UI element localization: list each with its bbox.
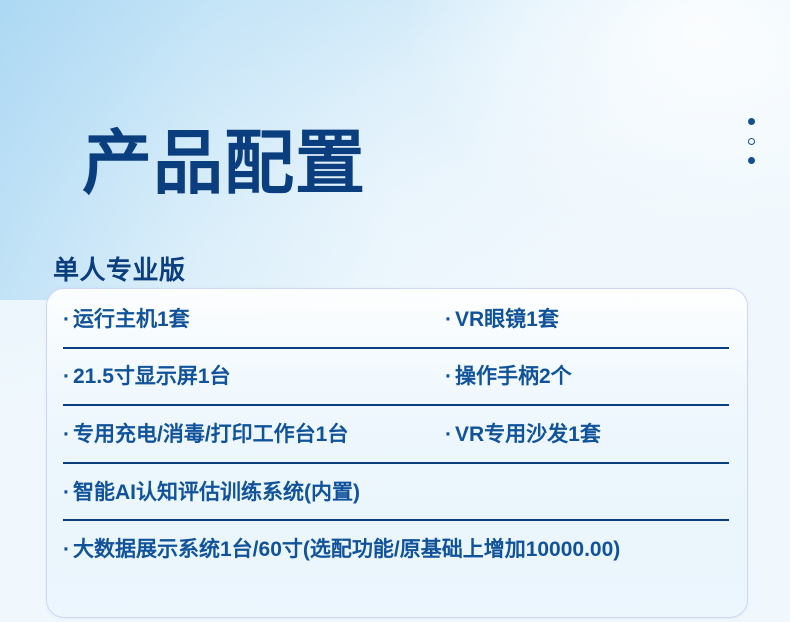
bullet-icon: · [63, 424, 70, 445]
spec-item: · 专用充电/消毒/打印工作台1台 [63, 418, 445, 448]
spec-item: · 21.5寸显示屏1台 [63, 360, 445, 390]
section-title: 单人专业版 [53, 250, 186, 287]
bullet-icon: · [63, 539, 70, 560]
table-row: · 大数据展示系统1台/60寸(选配功能/原基础上增加10000.00) [47, 519, 747, 577]
bullet-icon: · [63, 482, 70, 503]
more-dot-top [748, 118, 755, 125]
spec-item-label: 操作手柄2个 [455, 360, 572, 390]
spec-item-label: VR专用沙发1套 [455, 418, 601, 448]
product-config-page: 产品配置 单人专业版 · 运行主机1套 · VR眼镜1套 · 21.5寸显示屏1… [0, 0, 790, 622]
spec-table: · 运行主机1套 · VR眼镜1套 · 21.5寸显示屏1台 · 操作手柄2个 [47, 289, 747, 577]
spec-item-label: 大数据展示系统1台/60寸(选配功能/原基础上增加10000.00) [73, 533, 620, 563]
spec-item: · VR眼镜1套 [445, 303, 559, 333]
bullet-icon: · [445, 309, 452, 330]
bullet-icon: · [63, 366, 70, 387]
bullet-icon: · [445, 424, 452, 445]
more-dot-middle [748, 138, 755, 145]
spec-item-label: 智能AI认知评估训练系统(内置) [73, 476, 360, 506]
spec-item-label: VR眼镜1套 [455, 303, 559, 333]
table-row: · 智能AI认知评估训练系统(内置) [47, 462, 747, 520]
spec-item-label: 专用充电/消毒/打印工作台1台 [73, 418, 348, 448]
spec-item: · 大数据展示系统1台/60寸(选配功能/原基础上增加10000.00) [63, 533, 731, 563]
spec-item: · 操作手柄2个 [445, 360, 572, 390]
table-row: · 21.5寸显示屏1台 · 操作手柄2个 [47, 347, 747, 405]
background-highlight [410, 0, 790, 240]
table-row: · 运行主机1套 · VR眼镜1套 [47, 289, 747, 347]
spec-card: · 运行主机1套 · VR眼镜1套 · 21.5寸显示屏1台 · 操作手柄2个 [46, 288, 748, 618]
bullet-icon: · [445, 366, 452, 387]
spec-item-label: 运行主机1套 [73, 303, 190, 333]
page-title: 产品配置 [82, 123, 366, 204]
more-dot-bottom [748, 157, 755, 164]
spec-item-label: 21.5寸显示屏1台 [73, 360, 231, 390]
spec-item: · 智能AI认知评估训练系统(内置) [63, 476, 731, 506]
bullet-icon: · [63, 309, 70, 330]
spec-item: · VR专用沙发1套 [445, 418, 601, 448]
spec-item: · 运行主机1套 [63, 303, 445, 333]
table-row: · 专用充电/消毒/打印工作台1台 · VR专用沙发1套 [47, 404, 747, 462]
more-vertical-icon[interactable] [744, 118, 758, 164]
